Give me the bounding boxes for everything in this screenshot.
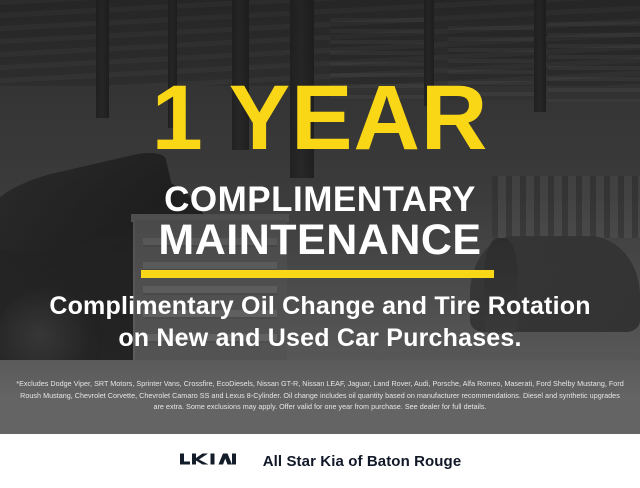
subheadline-line-2: on New and Used Car Purchases. [0,326,640,351]
promo-content: 1 YEAR COMPLIMENTARY MAINTENANCE Complim… [0,0,640,434]
dealer-name: All Star Kia of Baton Rouge [263,453,462,470]
headline-complimentary: COMPLIMENTARY [0,182,640,217]
yellow-divider [141,270,494,278]
promotional-banner: 1 YEAR COMPLIMENTARY MAINTENANCE Complim… [0,0,640,488]
headline-maintenance: MAINTENANCE [0,219,640,262]
disclaimer-text: *Excludes Dodge Viper, SRT Motors, Sprin… [14,378,626,413]
footer-bar: All Star Kia of Baton Rouge [0,434,640,488]
kia-logo-icon [179,449,243,474]
headline-year: 1 YEAR [0,72,640,164]
subheadline-line-1: Complimentary Oil Change and Tire Rotati… [0,294,640,319]
